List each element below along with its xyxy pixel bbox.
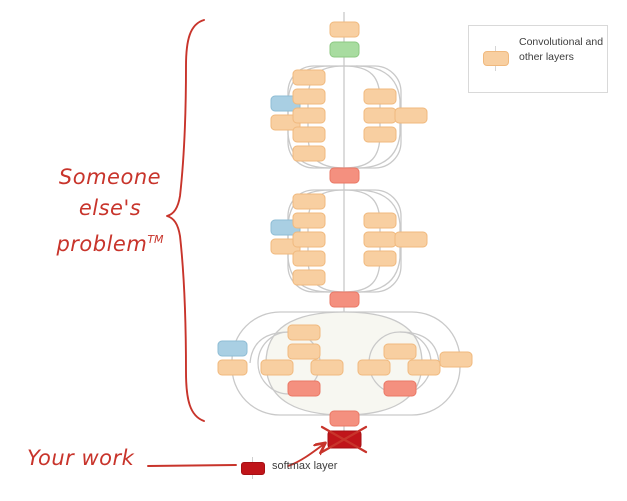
brace-label-line2: else's — [40, 193, 180, 224]
softmax-legend-label: softmax layer — [272, 460, 337, 472]
cell-middle-nodes — [271, 194, 427, 285]
node-conv-stem-top — [330, 22, 359, 37]
diagram-canvas: Convolutional and other layers Someone e… — [0, 0, 627, 501]
your-work-label: Your work — [27, 446, 134, 470]
node-salmon-divider-3 — [330, 411, 359, 426]
brace-label-line3: problem — [56, 232, 147, 256]
legend-label: Convolutional and other layers — [519, 35, 605, 64]
brace-label-line1: Someone — [40, 162, 180, 193]
node-salmon-divider-1 — [330, 168, 359, 183]
softmax-rounded-rect-icon — [241, 462, 265, 475]
node-salmon-divider-2 — [330, 292, 359, 307]
trademark-mark: TM — [147, 233, 163, 246]
legend-panel: Convolutional and other layers — [468, 25, 608, 93]
someone-elses-problem-label: Someone else's problemTM — [40, 162, 180, 260]
leader-line-icon — [148, 465, 236, 466]
cell-top-nodes — [271, 70, 427, 161]
node-green-stem — [330, 42, 359, 57]
rounded-rect-icon — [483, 51, 509, 66]
